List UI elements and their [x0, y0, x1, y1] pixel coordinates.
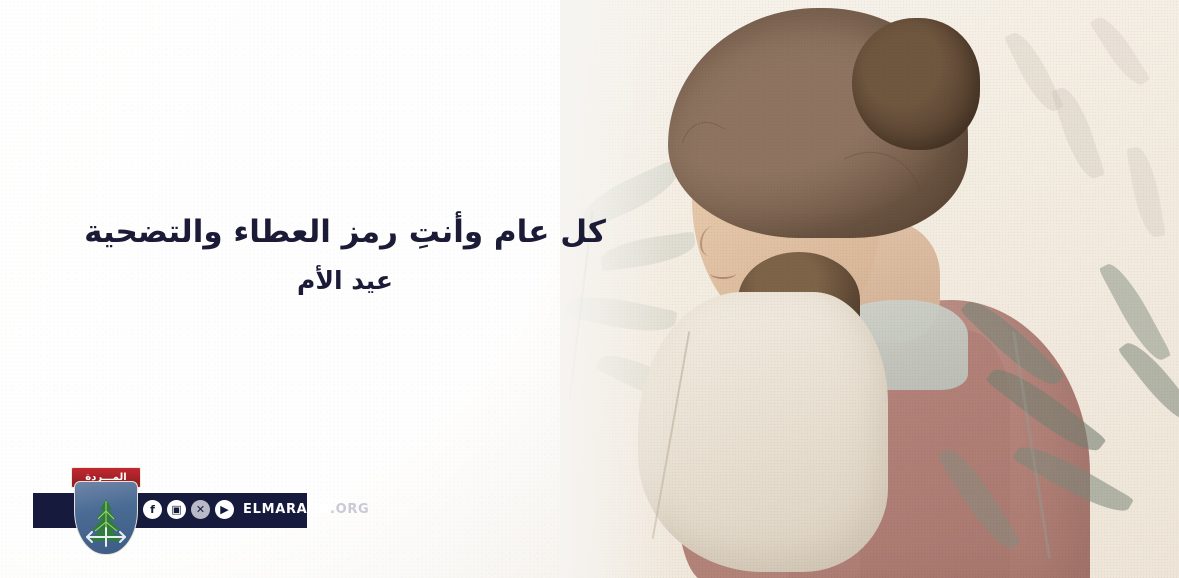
social-icons: f ▣ ✕ ▶ — [143, 500, 234, 519]
youtube-icon[interactable]: ▶ — [215, 500, 234, 519]
page-title: كل عام وأنتِ رمز العطاء والتضحية — [60, 214, 630, 252]
greeting-subtitle: عيد الأم — [60, 266, 630, 296]
mother-and-baby-illustration — [560, 0, 1179, 578]
greeting-text-block: كل عام وأنتِ رمز العطاء والتضحية عيد الأ… — [60, 214, 630, 296]
instagram-icon[interactable]: ▣ — [167, 500, 186, 519]
x-twitter-icon[interactable]: ✕ — [191, 500, 210, 519]
artwork-left-fade — [560, 0, 1179, 578]
sword-icon — [84, 522, 128, 552]
elmarada-logo[interactable]: المـــردة — [68, 467, 142, 553]
website-tld: .ORG — [330, 502, 369, 517]
facebook-icon[interactable]: f — [143, 500, 162, 519]
shield-emblem — [74, 481, 138, 555]
website-name: ELMARADA — [243, 502, 330, 517]
website-url[interactable]: ELMARADA.ORG — [243, 502, 369, 517]
mothers-day-banner: كل عام وأنتِ رمز العطاء والتضحية عيد الأ… — [0, 0, 1179, 578]
